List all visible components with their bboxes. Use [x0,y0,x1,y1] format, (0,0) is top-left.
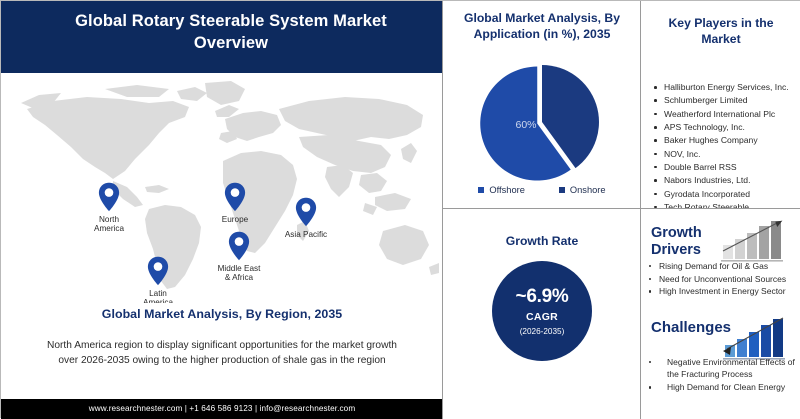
key-player-item: Tech Rotary Steerable [653,201,800,209]
key-player-item: Halliburton Energy Services, Inc. [653,81,800,94]
key-player-item: Gyrodata Incorporated [653,188,800,201]
region-analysis-title: Global Market Analysis, By Region, 2035 [1,307,443,321]
map-pin-label: Europe [222,215,248,224]
legend-label-onshore: Onshore [570,185,606,195]
map-pin-label: North America [94,215,124,233]
growth-rate-title: Growth Rate [451,233,633,249]
page-title: Global Rotary Steerable System Market Ov… [51,11,411,55]
legend-label-offshore: Offshore [489,185,525,195]
growth-drivers-list: Rising Demand for Oil & GasNeed for Unco… [645,261,799,299]
map-pin-label: Middle East & Africa [218,264,261,282]
legend-item-onshore[interactable]: Onshore [559,185,606,195]
growth-driver-item: Rising Demand for Oil & Gas [645,261,799,273]
growth-driver-item: Need for Unconventional Sources [645,274,799,286]
key-player-item: APS Technology, Inc. [653,121,800,134]
drivers-challenges-panel: Growth Drivers Rising Demand for Oil & G… [641,209,800,419]
challenge-item: High Demand for Clean Energy [645,382,799,394]
footer-bar: www.researchnester.com | +1 646 586 9123… [1,399,443,419]
challenges-list: Negative Environmental Effects of the Fr… [645,357,799,396]
map-pin-asia-pacific[interactable] [295,197,317,227]
world-map: North AmericaLatin AmericaEuropeMiddle E… [1,75,443,303]
map-pin-europe[interactable] [224,182,246,212]
growth-rate-panel: Growth Rate ~6.9% CAGR (2026-2035) [443,209,641,419]
legend-swatch-offshore [478,187,484,193]
growth-driver-item: High Investment in Energy Sector [645,286,799,298]
key-player-item: Schlumberger Limited [653,94,800,107]
challenges-bar-chart-icon [719,315,791,361]
map-pin-label: Latin America [143,289,173,303]
growth-rate-metric: CAGR [526,311,558,323]
legend-swatch-onshore [559,187,565,193]
application-pie-panel: Global Market Analysis, By Application (… [443,1,641,209]
map-pin-north-america[interactable] [98,182,120,212]
key-player-item: NOV, Inc. [653,148,800,161]
region-analysis-description: North America region to display signific… [47,338,397,368]
challenge-item: Negative Environmental Effects of the Fr… [645,357,799,380]
key-players-title: Key Players in the Market [649,15,793,47]
key-player-item: Double Barrel RSS [653,161,800,174]
key-players-list: Halliburton Energy Services, Inc.Schlumb… [653,81,800,209]
region-panel: Global Rotary Steerable System Market Ov… [1,1,443,419]
pie-legend: Offshore Onshore [443,185,641,195]
map-pin-latin-america[interactable] [147,256,169,286]
key-player-item: Weatherford International Plc [653,108,800,121]
infographic-root: Global Rotary Steerable System Market Ov… [0,0,800,418]
growth-bar-chart-icon [719,217,791,263]
key-player-item: Nabors Industries, Ltd. [653,174,800,187]
key-player-item: Baker Hughes Company [653,134,800,147]
legend-item-offshore[interactable]: Offshore [478,185,525,195]
growth-rate-badge: ~6.9% CAGR (2026-2035) [492,261,592,361]
growth-rate-period: (2026-2035) [520,327,565,336]
footer-contact-text: www.researchnester.com | +1 646 586 9123… [1,399,443,419]
key-players-panel: Key Players in the Market Halliburton En… [641,1,800,209]
map-pin-middle-east-africa[interactable] [228,231,250,261]
map-pin-label: Asia Pacific [285,230,327,239]
growth-rate-value: ~6.9% [516,287,569,306]
pie-panel-title: Global Market Analysis, By Application (… [451,10,633,42]
pie-value-label-offshore: 60% [503,119,549,131]
